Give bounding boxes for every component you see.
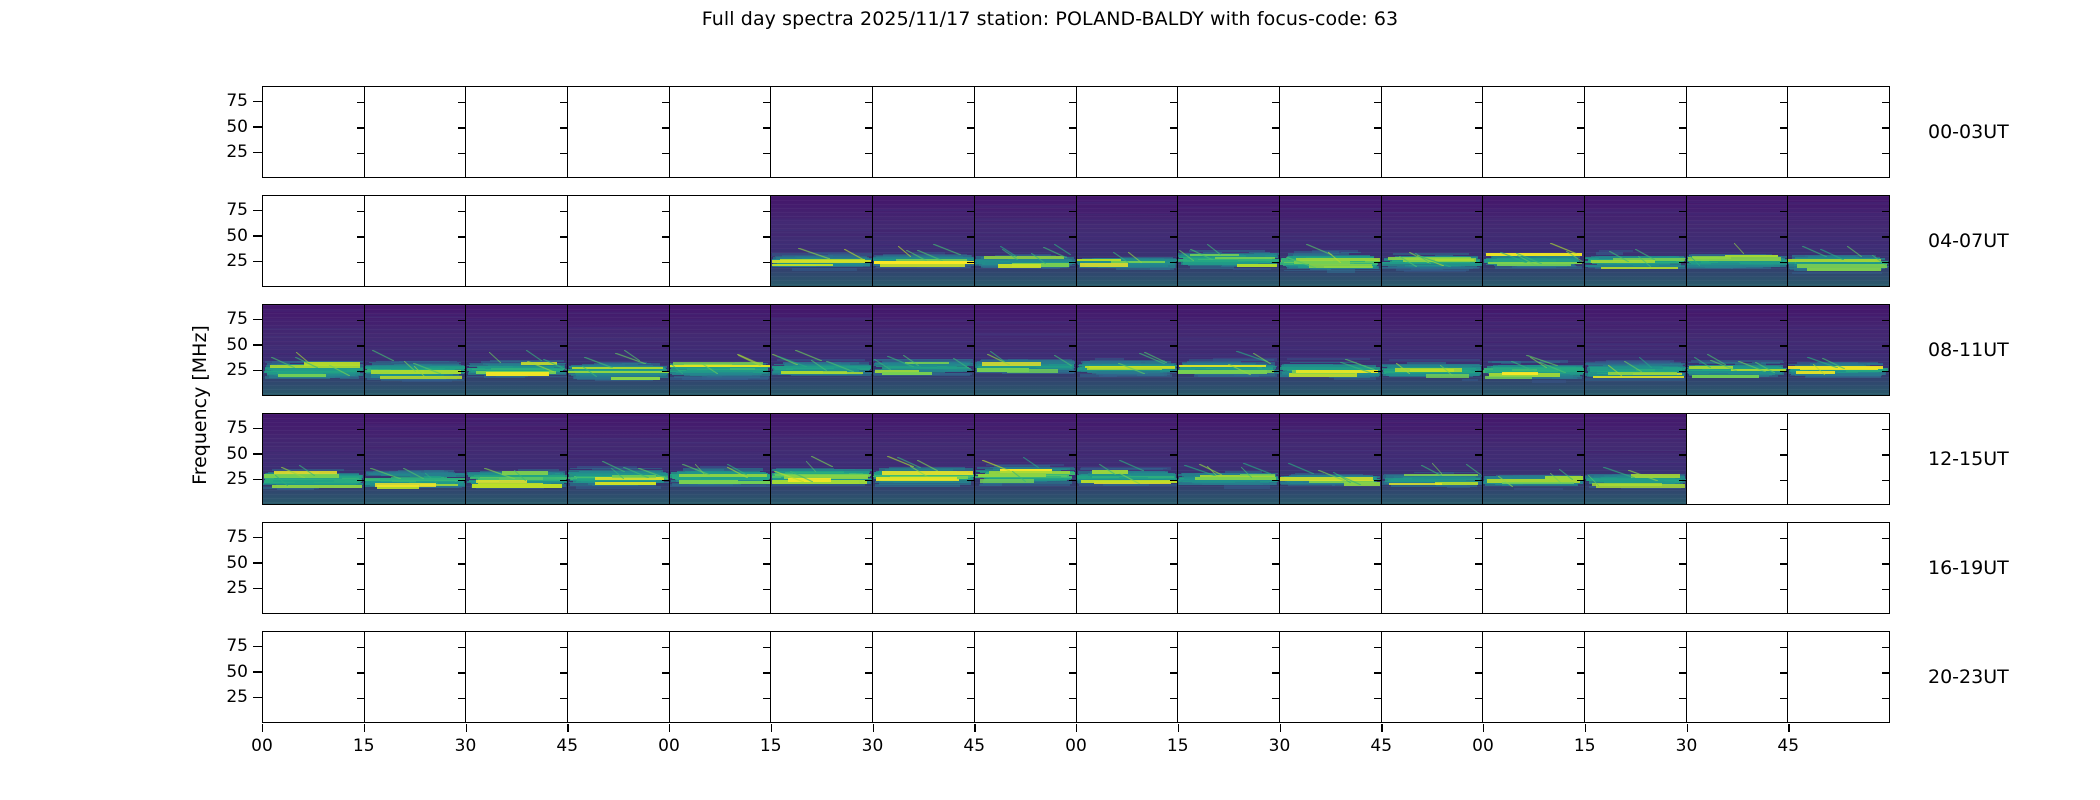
spectrogram-trace: [1382, 334, 1483, 336]
inner-y-tick: [1374, 262, 1381, 263]
inner-y-tick: [865, 538, 872, 539]
inner-y-tick: [1374, 102, 1381, 103]
spectrogram-trace: [1280, 427, 1381, 429]
inner-y-tick: [1577, 563, 1584, 564]
spectrogram-cell[interactable]: [1483, 414, 1585, 504]
inner-y-tick: [967, 320, 974, 321]
spectrogram-cell[interactable]: [1382, 414, 1484, 504]
empty-cell[interactable]: [670, 632, 772, 722]
spectrogram-image: [975, 414, 1076, 504]
empty-cell[interactable]: [1382, 523, 1484, 613]
y-axis-tick-label: 25: [226, 578, 248, 598]
empty-cell[interactable]: [1788, 523, 1889, 613]
spectrogram-trace: [1280, 316, 1381, 317]
spectrogram-image: [1382, 414, 1483, 504]
inner-y-tick: [1780, 236, 1787, 237]
spectrogram-trace: [873, 221, 974, 222]
inner-y-tick: [357, 429, 364, 430]
spectrogram-image: [1077, 414, 1178, 504]
spectrogram-trace: [1077, 429, 1178, 430]
inner-y-tick: [1272, 153, 1279, 154]
inner-y-tick: [1679, 371, 1686, 372]
empty-cell[interactable]: [466, 196, 568, 286]
spectrogram-cell[interactable]: [873, 196, 975, 286]
spectrogram-trace: [1178, 238, 1279, 240]
spectrogram-trace: [975, 334, 1076, 336]
inner-y-tick: [1882, 672, 1889, 673]
spectrogram-image: [568, 414, 669, 504]
spectrogram-trace: [873, 209, 974, 211]
spectrogram-trace: [466, 336, 567, 337]
spectrogram-cell[interactable]: [1585, 414, 1687, 504]
y-axis-tick-label: 75: [226, 636, 248, 656]
inner-y-tick: [967, 538, 974, 539]
spectrogram-trace: [670, 452, 771, 453]
empty-cell[interactable]: [1687, 87, 1789, 177]
row-axes[interactable]: [262, 86, 1890, 178]
spectrogram-trace: [670, 321, 771, 323]
spectrogram-cell[interactable]: [975, 414, 1077, 504]
inner-y-tick: [662, 563, 669, 564]
spectrogram-trace: [1585, 417, 1686, 418]
spectrogram-trace: [1178, 338, 1279, 340]
inner-y-tick: [1780, 698, 1787, 699]
inner-y-tick: [1475, 211, 1482, 212]
row-axes[interactable]: [262, 631, 1890, 723]
spectrogram-chirp-trace: [917, 250, 943, 261]
empty-cell[interactable]: [771, 632, 873, 722]
empty-cell[interactable]: [1483, 632, 1585, 722]
spectrogram-bright-trace: [1215, 257, 1274, 259]
spectrogram-cell[interactable]: [1483, 305, 1585, 395]
spectrogram-trace: [263, 440, 364, 442]
spectrogram-trace: [1483, 351, 1584, 353]
spectrogram-trace: [1382, 445, 1483, 447]
inner-y-tick: [865, 563, 872, 564]
spectrogram-trace: [466, 463, 567, 464]
spectrogram-trace: [1788, 316, 1889, 317]
inner-y-tick: [357, 647, 364, 648]
empty-cell[interactable]: [771, 523, 873, 613]
spectrogram-trace: [771, 231, 872, 233]
inner-y-tick: [1780, 480, 1787, 481]
inner-y-tick: [763, 563, 770, 564]
spectrogram-trace: [1585, 199, 1686, 200]
spectrogram-trace: [1077, 427, 1178, 429]
spectrogram-trace: [1077, 335, 1178, 337]
spectrogram-cell[interactable]: [1077, 196, 1179, 286]
inner-y-tick: [1374, 563, 1381, 564]
spectrogram-image: [1382, 305, 1483, 395]
empty-cell[interactable]: [365, 523, 467, 613]
spectrogram-chirp-trace: [670, 363, 683, 374]
spectrogram-bright-trace: [874, 261, 974, 264]
spectrogram-trace: [1280, 235, 1381, 237]
inner-y-tick: [1577, 236, 1584, 237]
spectrogram-trace: [1077, 319, 1178, 321]
spectrogram-chirp-trace: [1288, 463, 1314, 474]
spectrogram-trace: [975, 307, 1076, 309]
spectrogram-cell[interactable]: [466, 414, 568, 504]
spectrogram-cell[interactable]: [771, 305, 873, 395]
spectrogram-trace: [1280, 449, 1381, 450]
spectrogram-trace: [1687, 200, 1788, 201]
spectrogram-cell[interactable]: [1178, 414, 1280, 504]
spectrogram-trace: [466, 442, 567, 444]
inner-y-tick: [1374, 211, 1381, 212]
inner-y-tick: [1780, 429, 1787, 430]
y-axis-tick-label: 75: [226, 91, 248, 111]
spectrogram-trace: [1585, 444, 1686, 445]
inner-y-tick: [1475, 589, 1482, 590]
inner-y-tick: [1577, 211, 1584, 212]
spectrogram-trace: [1687, 225, 1788, 227]
spectrogram-chirp-trace: [1340, 362, 1372, 373]
inner-y-tick: [560, 211, 567, 212]
spectrogram-cell[interactable]: [466, 305, 568, 395]
empty-cell[interactable]: [1280, 87, 1382, 177]
spectrogram-bright-trace: [1179, 365, 1266, 367]
empty-cell[interactable]: [1280, 632, 1382, 722]
inner-y-tick: [662, 127, 669, 128]
spectrogram-chirp-trace: [1043, 247, 1067, 258]
spectrogram-trace: [714, 372, 752, 374]
spectrogram-trace: [1687, 202, 1788, 203]
spectrogram-trace: [1382, 223, 1483, 225]
empty-cell[interactable]: [568, 196, 670, 286]
inner-y-tick: [1069, 480, 1076, 481]
inner-y-tick: [865, 371, 872, 372]
spectrogram-trace: [466, 433, 567, 435]
row-axes[interactable]: [262, 522, 1890, 614]
inner-y-tick: [1374, 371, 1381, 372]
row-label: 08-11UT: [1928, 339, 2009, 361]
inner-y-tick: [357, 371, 364, 372]
spectrogram-trace: [1687, 214, 1788, 216]
empty-cell[interactable]: [670, 196, 772, 286]
spectrogram-cell[interactable]: [1280, 305, 1382, 395]
spectrogram-cell[interactable]: [1280, 414, 1382, 504]
x-axis-tick: [1076, 724, 1077, 732]
inner-y-tick: [1882, 647, 1889, 648]
spectrogram-trace: [1077, 312, 1178, 314]
inner-y-tick: [560, 262, 567, 263]
spectrogram-trace: [1280, 222, 1381, 224]
x-axis-tick-label: 30: [455, 736, 477, 756]
spectrogram-trace: [1483, 315, 1584, 317]
inner-y-tick: [1679, 672, 1686, 673]
spectrogram-cell[interactable]: [771, 196, 873, 286]
spectrogram-cell[interactable]: [1280, 196, 1382, 286]
empty-cell[interactable]: [771, 87, 873, 177]
spectrogram-trace: [263, 310, 364, 312]
empty-cell[interactable]: [975, 632, 1077, 722]
inner-y-tick: [1374, 589, 1381, 590]
empty-cell[interactable]: [975, 523, 1077, 613]
spectrogram-trace: [1190, 479, 1255, 482]
spectrogram-trace: [1077, 208, 1178, 210]
spectrogram-trace: [1280, 460, 1381, 461]
spectrogram-trace: [975, 439, 1076, 441]
empty-cell[interactable]: [1687, 523, 1789, 613]
panel-row-12-15ut: 25507512-15UT: [262, 413, 1890, 505]
empty-cell[interactable]: [670, 523, 772, 613]
spectrogram-image: [1788, 305, 1889, 395]
empty-cell[interactable]: [263, 87, 365, 177]
spectrogram-trace: [1532, 380, 1566, 383]
inner-y-tick: [458, 236, 465, 237]
spectrogram-trace: [1178, 313, 1279, 315]
spectrogram-trace: [670, 318, 771, 320]
spectrogram-cell[interactable]: [1382, 305, 1484, 395]
y-axis-tick-label: 75: [226, 527, 248, 547]
inner-y-tick: [662, 320, 669, 321]
spectrogram-trace: [1178, 448, 1279, 450]
spectrogram-chirp-trace: [887, 356, 913, 367]
empty-cell[interactable]: [365, 196, 467, 286]
spectrogram-chirp-trace: [701, 363, 718, 374]
spectrogram-chirp-trace: [1054, 355, 1073, 366]
spectrogram-image: [771, 305, 872, 395]
empty-cell[interactable]: [873, 87, 975, 177]
spectrogram-trace: [1585, 463, 1686, 465]
empty-cell[interactable]: [873, 523, 975, 613]
inner-y-tick: [1475, 153, 1482, 154]
spectrogram-trace: [1077, 325, 1178, 326]
empty-cell[interactable]: [1178, 87, 1280, 177]
empty-cell[interactable]: [568, 632, 670, 722]
spectrogram-cell[interactable]: [263, 414, 365, 504]
inner-y-tick: [1780, 345, 1787, 346]
spectrogram-trace: [1788, 233, 1889, 234]
inner-y-tick: [458, 589, 465, 590]
spectrogram-cell[interactable]: [873, 414, 975, 504]
spectrogram-cell[interactable]: [568, 305, 670, 395]
inner-y-tick: [560, 698, 567, 699]
empty-cell[interactable]: [1382, 87, 1484, 177]
spectrogram-trace: [1687, 341, 1788, 342]
spectrogram-trace: [1077, 323, 1178, 324]
spectrogram-trace: [1788, 319, 1889, 320]
empty-cell[interactable]: [1077, 632, 1179, 722]
inner-y-tick: [865, 127, 872, 128]
empty-cell[interactable]: [1687, 632, 1789, 722]
inner-y-tick: [1374, 698, 1381, 699]
spectrogram-cell[interactable]: [1687, 305, 1789, 395]
spectrogram-trace: [1585, 436, 1686, 438]
spectrogram-chirp-trace: [602, 461, 624, 472]
spectrogram-trace: [1585, 422, 1686, 424]
spectrogram-trace: [1483, 329, 1584, 330]
spectrogram-cell[interactable]: [670, 414, 772, 504]
spectrogram-trace: [975, 316, 1076, 317]
spectrogram-trace: [1280, 419, 1381, 421]
inner-y-tick: [1374, 454, 1381, 455]
spectrogram-trace: [771, 321, 872, 322]
empty-cell[interactable]: [1788, 414, 1889, 504]
empty-cell[interactable]: [466, 87, 568, 177]
spectrogram-cell[interactable]: [1077, 305, 1179, 395]
inner-y-tick: [357, 698, 364, 699]
spectrogram-trace: [1687, 353, 1788, 355]
spectrogram-trace: [771, 317, 872, 318]
spectrogram-cell[interactable]: [1585, 305, 1687, 395]
row-axes[interactable]: [262, 195, 1890, 287]
spectrogram-trace: [1077, 316, 1178, 318]
empty-cell[interactable]: [365, 632, 467, 722]
x-axis-tick-label: 15: [1574, 736, 1596, 756]
spectrogram-cell[interactable]: [1178, 305, 1280, 395]
spectrogram-cell[interactable]: [1483, 196, 1585, 286]
empty-cell[interactable]: [568, 523, 670, 613]
inner-y-tick: [865, 480, 872, 481]
empty-cell[interactable]: [263, 632, 365, 722]
spectrogram-cell[interactable]: [1788, 305, 1889, 395]
spectrogram-trace: [873, 206, 974, 207]
spectrogram-cell[interactable]: [568, 414, 670, 504]
spectrogram-cell[interactable]: [771, 414, 873, 504]
empty-cell[interactable]: [466, 523, 568, 613]
empty-cell[interactable]: [1077, 87, 1179, 177]
spectrogram-trace: [1280, 433, 1381, 435]
spectrogram-trace: [1483, 335, 1584, 337]
spectrogram-cell[interactable]: [975, 196, 1077, 286]
spectrogram-trace: [1382, 220, 1483, 222]
empty-cell[interactable]: [1483, 87, 1585, 177]
row-axes[interactable]: [262, 304, 1890, 396]
inner-y-tick: [865, 454, 872, 455]
empty-cell[interactable]: [670, 87, 772, 177]
spectrogram-trace: [1585, 453, 1686, 455]
spectrogram-image: [1788, 196, 1889, 286]
spectrogram-cell[interactable]: [1178, 196, 1280, 286]
spectrogram-trace: [771, 436, 872, 438]
spectrogram-trace: [1585, 233, 1686, 234]
row-axes[interactable]: [262, 413, 1890, 505]
spectrogram-cell[interactable]: [1788, 196, 1889, 286]
spectrogram-trace: [365, 416, 466, 417]
y-axis-tick: [253, 537, 262, 538]
empty-cell[interactable]: [873, 632, 975, 722]
empty-cell[interactable]: [1585, 523, 1687, 613]
spectrogram-bright-trace: [679, 480, 738, 484]
spectrogram-trace: [1334, 377, 1376, 379]
empty-cell[interactable]: [263, 196, 365, 286]
spectrogram-cell[interactable]: [365, 414, 467, 504]
x-axis-tick-label: 45: [556, 736, 578, 756]
empty-cell[interactable]: [1077, 523, 1179, 613]
spectrogram-chirp-trace: [1119, 473, 1140, 484]
empty-cell[interactable]: [568, 87, 670, 177]
y-axis-tick: [253, 588, 262, 589]
spectrogram-trace: [1687, 336, 1788, 337]
empty-cell[interactable]: [1483, 523, 1585, 613]
spectrogram-trace: [873, 344, 974, 346]
inner-y-tick: [967, 563, 974, 564]
spectrogram-cell[interactable]: [1687, 196, 1789, 286]
empty-cell[interactable]: [1788, 87, 1889, 177]
spectrogram-chirp-trace: [1689, 255, 1700, 266]
spectrogram-trace: [365, 430, 466, 431]
spectrogram-trace: [466, 327, 567, 328]
spectrogram-trace: [1178, 242, 1279, 243]
spectrogram-trace: [365, 319, 466, 320]
spectrogram-trace: [568, 436, 669, 437]
spectrogram-trace: [670, 324, 771, 326]
empty-cell[interactable]: [1585, 87, 1687, 177]
spectrogram-cell[interactable]: [1077, 414, 1179, 504]
empty-cell[interactable]: [1687, 414, 1789, 504]
spectrogram-trace: [873, 418, 974, 420]
empty-cell[interactable]: [1585, 632, 1687, 722]
spectrogram-trace: [1687, 350, 1788, 352]
x-axis-tick: [1178, 724, 1179, 732]
spectrogram-chirp-trace: [372, 350, 394, 361]
inner-y-tick: [560, 563, 567, 564]
spectrogram-trace: [1382, 330, 1483, 331]
empty-cell[interactable]: [1178, 632, 1280, 722]
spectrogram-chirp-trace: [1023, 457, 1039, 468]
spectrogram-trace: [1585, 427, 1686, 429]
spectrogram-trace: [1382, 454, 1483, 455]
row-label: 00-03UT: [1928, 121, 2009, 143]
spectrogram-trace: [1178, 325, 1279, 326]
empty-cell[interactable]: [1788, 632, 1889, 722]
empty-cell[interactable]: [1382, 632, 1484, 722]
spectrogram-cell[interactable]: [670, 305, 772, 395]
inner-y-tick: [1577, 320, 1584, 321]
y-axis-tick: [253, 428, 262, 429]
empty-cell[interactable]: [1280, 523, 1382, 613]
spectrogram-cell[interactable]: [263, 305, 365, 395]
spectrogram-trace: [1382, 459, 1483, 460]
spectrogram-trace: [1077, 421, 1178, 422]
spectrogram-trace: [975, 241, 1076, 242]
spectrogram-trace: [466, 344, 567, 345]
inner-y-tick: [1170, 698, 1177, 699]
y-axis-tick: [253, 126, 262, 127]
empty-cell[interactable]: [466, 632, 568, 722]
inner-y-tick: [458, 371, 465, 372]
spectrogram-trace: [365, 336, 466, 338]
spectrogram-trace: [1178, 424, 1279, 426]
spectrogram-cell[interactable]: [365, 305, 467, 395]
inner-y-tick: [1780, 538, 1787, 539]
empty-cell[interactable]: [1178, 523, 1280, 613]
spectrogram-trace: [1585, 457, 1686, 459]
spectrogram-cell[interactable]: [1585, 196, 1687, 286]
inner-y-tick: [1780, 320, 1787, 321]
inner-y-tick: [1882, 371, 1889, 372]
inner-y-tick: [1780, 647, 1787, 648]
empty-cell[interactable]: [975, 87, 1077, 177]
inner-y-tick: [1272, 672, 1279, 673]
inner-y-tick: [1170, 672, 1177, 673]
inner-y-tick: [1475, 538, 1482, 539]
empty-cell[interactable]: [365, 87, 467, 177]
spectrogram-cell[interactable]: [1382, 196, 1484, 286]
y-axis-tick-label: 25: [226, 469, 248, 489]
inner-y-tick: [560, 371, 567, 372]
inner-y-tick: [1475, 320, 1482, 321]
spectrogram-cell[interactable]: [873, 305, 975, 395]
inner-y-tick: [1679, 320, 1686, 321]
empty-cell[interactable]: [263, 523, 365, 613]
spectrogram-chirp-trace: [1113, 252, 1129, 263]
spectrogram-trace: [670, 338, 771, 339]
spectrogram-cell[interactable]: [975, 305, 1077, 395]
spectrogram-trace: [1178, 311, 1279, 312]
